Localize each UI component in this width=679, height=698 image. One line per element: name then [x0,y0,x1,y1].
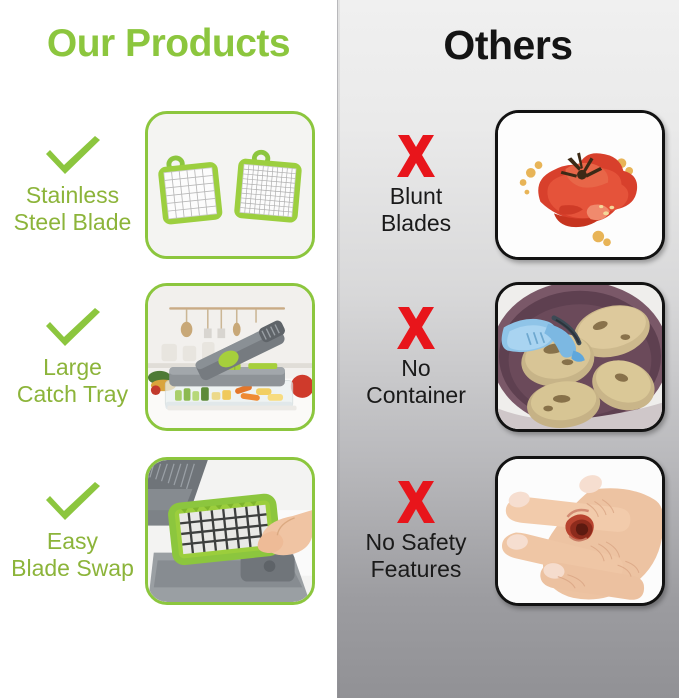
x-icon [391,133,441,179]
chopper-illustration [148,286,312,428]
product-image-card-2 [145,283,315,431]
check-icon [42,306,104,348]
squashed-tomato-photo [498,113,662,257]
feature-label-line-2: Catch Tray [17,381,128,408]
hand-inserting-blade-photo [148,460,312,602]
cut-finger-illustration [498,459,662,604]
drawback-row-3: No Safety Features [337,455,679,607]
drawback-label-line-1: Blunt [390,183,442,210]
potatoes-in-bowl-with-peeler-photo [498,285,662,429]
product-feature-row-3: Easy Blade Swap [0,455,337,607]
drawback-label-no-safety-features: No Safety Features [337,479,495,583]
product-image-card-1 [145,111,315,259]
cut-finger-hand-photo [498,459,662,603]
feature-label-line-2: Blade Swap [11,555,134,582]
feature-label-stainless-steel-blade: Stainless Steel Blade [0,134,145,235]
potatoes-bowl-illustration [498,285,662,430]
drawback-label-line-2: Container [366,382,466,409]
drawback-image-card-1 [495,110,665,260]
drawback-label-no-container: No Container [337,305,495,409]
product-feature-row-1: Stainless Steel Blade [0,110,337,260]
drawback-label-line-1: No Safety [366,529,467,556]
blade-cartridges-illustration [148,114,312,256]
chopper-with-catch-tray-photo [148,286,312,428]
feature-label-line-1: Easy [47,528,98,555]
product-feature-row-2: Large Catch Tray [0,282,337,432]
drawback-image-card-2 [495,282,665,432]
feature-label-line-1: Large [43,354,102,381]
drawback-row-1: Blunt Blades [337,110,679,260]
check-icon [42,134,104,176]
drawback-row-2: No Container [337,282,679,432]
feature-label-easy-blade-swap: Easy Blade Swap [0,480,145,581]
product-image-card-3 [145,457,315,605]
green-blade-cartridges-photo [148,114,312,256]
feature-label-line-2: Steel Blade [14,209,132,236]
x-icon [391,479,441,525]
others-heading: Others [337,22,679,69]
our-products-heading: Our Products [0,22,337,66]
drawback-label-blunt-blades: Blunt Blades [337,133,495,237]
squashed-tomato-illustration [498,113,662,258]
drawback-label-line-2: Features [371,556,462,583]
feature-label-large-catch-tray: Large Catch Tray [0,306,145,407]
blade-swap-illustration [148,460,312,602]
comparison-infographic: Our Products Others Stainless Steel Blad… [0,0,679,698]
x-icon [391,305,441,351]
feature-label-line-1: Stainless [26,182,119,209]
check-icon [42,480,104,522]
drawback-image-card-3 [495,456,665,606]
drawback-label-line-2: Blades [381,210,451,237]
drawback-label-line-1: No [401,355,430,382]
